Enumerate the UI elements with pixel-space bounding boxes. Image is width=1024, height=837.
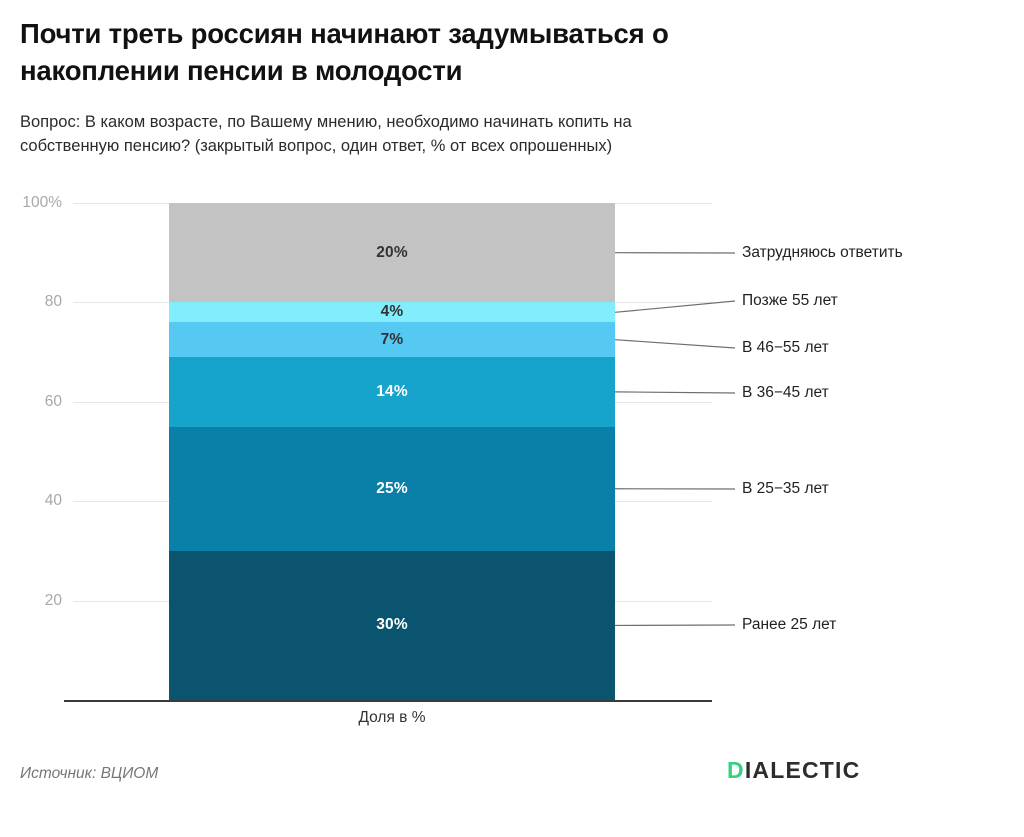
bar-segment[interactable]: 4% <box>169 302 615 322</box>
y-axis-tick-label: 100% <box>0 195 62 211</box>
stacked-bar[interactable]: 30%25%14%7%4%20% <box>169 203 615 700</box>
bar-segment[interactable]: 7% <box>169 322 615 357</box>
source-note: Источник: ВЦИОМ <box>20 765 158 783</box>
bar-segment[interactable]: 14% <box>169 357 615 427</box>
bar-segment[interactable]: 20% <box>169 203 615 302</box>
category-label[interactable]: Позже 55 лет <box>742 293 838 309</box>
bar-segment-value: 25% <box>376 480 408 498</box>
logo-accent-letter: D <box>727 757 745 783</box>
y-axis-tick-label: 80 <box>0 294 62 310</box>
bar-segment-value: 30% <box>376 616 408 634</box>
bar-segment-value: 20% <box>376 244 408 262</box>
bar-segment-value: 14% <box>376 383 408 401</box>
category-label[interactable]: В 36−45 лет <box>742 385 829 401</box>
dialectic-logo: DIALECTIC <box>727 757 860 784</box>
category-label[interactable]: В 46−55 лет <box>742 340 829 356</box>
bar-segment[interactable]: 25% <box>169 427 615 551</box>
bar-segment[interactable]: 30% <box>169 551 615 700</box>
leader-line <box>615 340 735 348</box>
leader-line <box>615 392 735 393</box>
category-label[interactable]: Ранее 25 лет <box>742 617 836 633</box>
chart-plot-area: 100%80604020 30%25%14%7%4%20% Ранее 25 л… <box>0 0 1024 837</box>
y-axis-tick-label: 40 <box>0 493 62 509</box>
category-label[interactable]: Затрудняюсь ответить <box>742 245 903 261</box>
bar-segment-value: 7% <box>381 331 404 349</box>
x-axis-baseline <box>64 700 712 702</box>
logo-text: IALECTIC <box>745 757 861 783</box>
x-axis-label: Доля в % <box>169 709 615 727</box>
bar-segment-value: 4% <box>381 303 404 321</box>
category-label[interactable]: В 25−35 лет <box>742 481 829 497</box>
y-axis-tick-label: 60 <box>0 394 62 410</box>
y-axis-tick-label: 20 <box>0 593 62 609</box>
